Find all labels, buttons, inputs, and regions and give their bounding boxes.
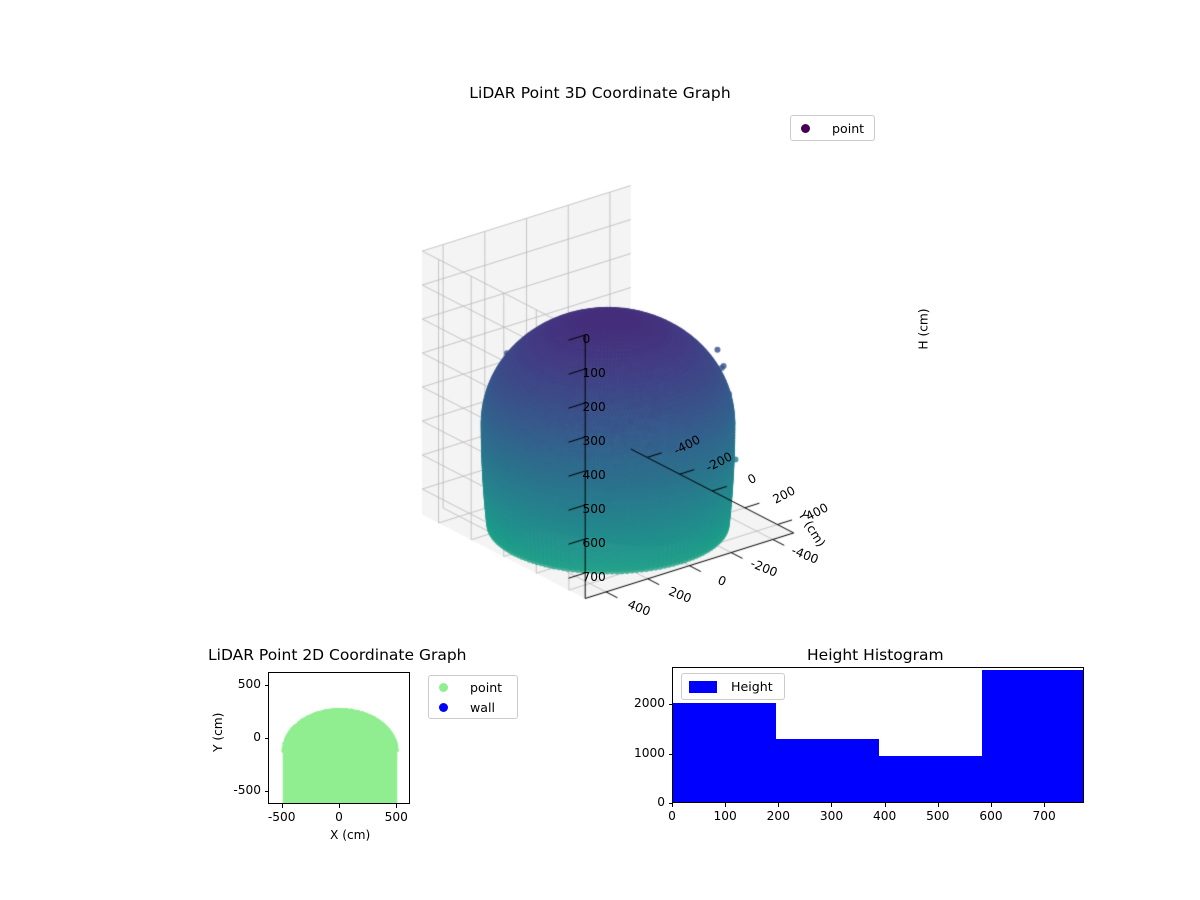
legend-label-point: point [832,121,864,136]
histogram-ytickmark-0 [669,803,673,804]
histogram-xtick-4: 400 [873,809,896,823]
histogram-xtickmark-3 [831,803,832,807]
plot2d-xtick-2: 500 [385,810,408,824]
histogram-xtickmark-5 [938,803,939,807]
histogram-ytickmark-1 [669,754,673,755]
histogram-xtick-3: 300 [820,809,843,823]
histogram-xtickmark-0 [672,803,673,807]
plot2d-point-cloud [269,673,410,804]
histogram-xtick-2: 200 [767,809,790,823]
plot3d-legend[interactable]: point [790,115,875,141]
plot2d-ytick-0: -500 [233,783,261,797]
histogram-xtickmark-6 [991,803,992,807]
wall-marker-icon [439,703,448,712]
plot2d-xaxis-label: X (cm) [330,828,370,842]
plot2d-title: LiDAR Point 2D Coordinate Graph [208,646,466,664]
legend-label-height: Height [731,679,773,694]
histogram-xtickmark-1 [725,803,726,807]
legend-item-height: Height [682,674,784,699]
legend-item-point: point [791,116,874,140]
plot2d-yaxis-label: Y (cm) [211,713,225,752]
matplotlib-figure: LiDAR Point 3D Coordinate Graph point -4… [0,0,1200,900]
histogram-xtick-1: 100 [714,809,737,823]
plot3d-ztick-4: 400 [583,468,606,482]
histogram-legend[interactable]: Height [681,673,785,700]
legend-label-point: point [470,680,502,695]
plot3d-ztick-2: 200 [583,400,606,414]
histogram-bar-1 [776,739,879,802]
histogram-ytick-1: 1000 [634,746,665,760]
plot3d-ztick-1: 100 [583,366,606,380]
histogram-xtick-5: 500 [926,809,949,823]
histogram-xtick-6: 600 [979,809,1002,823]
plot3d-ztick-7: 700 [583,570,606,584]
histogram-title: Height Histogram [807,646,944,664]
plot3d-ztick-0: 0 [583,332,591,346]
point-marker-icon [439,683,448,692]
plot2d-xtickmark-2 [396,804,397,808]
plot3d-ztick-6: 600 [583,536,606,550]
histogram-bar-3 [982,670,1084,802]
histogram-ytick-2: 2000 [634,696,665,710]
plot2d-xtick-0: -500 [268,810,296,824]
plot2d-xtickmark-1 [339,804,340,808]
histogram-bar-0 [673,703,776,802]
plot3d-ztick-5: 500 [583,502,606,516]
histogram-xtick-7: 700 [1032,809,1055,823]
plot2d-xtickmark-0 [282,804,283,808]
plot3d-zaxis-label: H (cm) [917,308,931,349]
legend-item-point: point [429,677,517,697]
plot2d-ytickmark-2 [265,685,269,686]
histogram-xtickmark-2 [778,803,779,807]
legend-item-wall: wall [429,697,517,717]
point-marker-icon [801,124,810,133]
plot2d-ytick-2: 500 [238,677,261,691]
histogram-xtickmark-7 [1044,803,1045,807]
plot2d-ytickmark-0 [265,791,269,792]
plot2d-xtick-1: 0 [335,810,343,824]
plot2d-ytick-1: 0 [253,730,261,744]
legend-label-wall: wall [470,700,495,715]
plot2d-ytickmark-1 [265,738,269,739]
plot2d-legend[interactable]: point wall [428,675,518,719]
histogram-ytick-0: 0 [657,795,665,809]
plot3d-title: LiDAR Point 3D Coordinate Graph [0,84,1200,102]
plot2d-axes[interactable] [268,672,410,804]
histogram-xtick-0: 0 [668,809,676,823]
histogram-bar-2 [879,756,982,802]
histogram-ytickmark-2 [669,704,673,705]
histogram-xtickmark-4 [885,803,886,807]
plot3d-ztick-3: 300 [583,434,606,448]
height-swatch-icon [689,681,717,693]
